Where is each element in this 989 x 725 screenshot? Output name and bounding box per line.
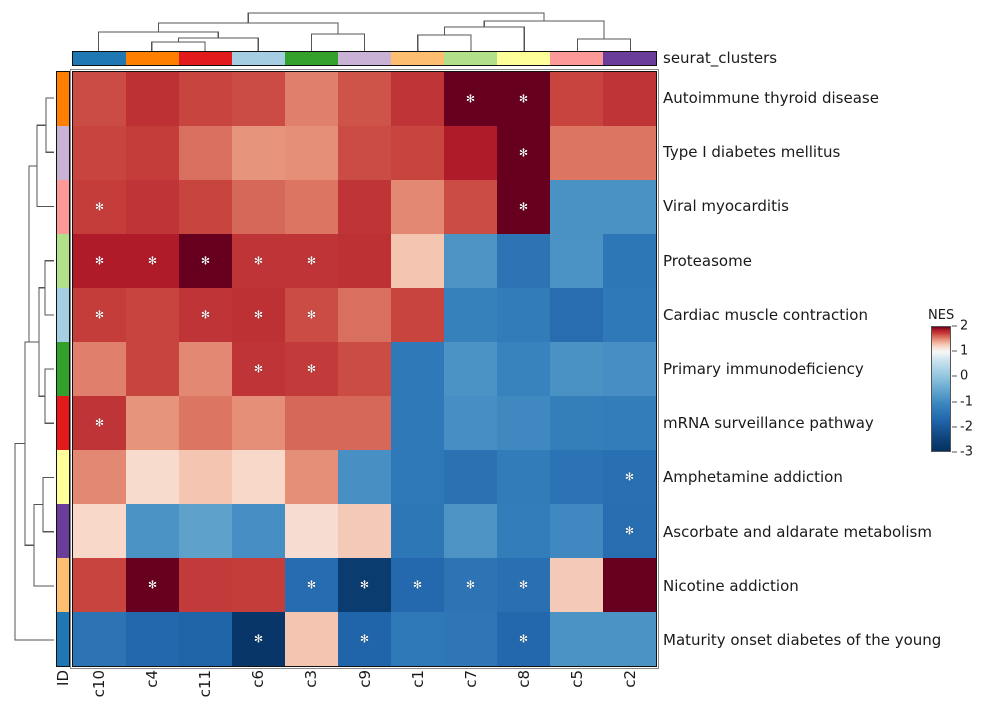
- heatmap-cell[interactable]: [285, 612, 338, 666]
- heatmap-cell[interactable]: ✻: [497, 126, 550, 180]
- heatmap-cell[interactable]: [603, 126, 656, 180]
- heatmap-cell[interactable]: ✻: [603, 504, 656, 558]
- heatmap-cell[interactable]: [179, 180, 232, 234]
- heatmap-cell[interactable]: [391, 612, 444, 666]
- heatmap-cell[interactable]: [338, 504, 391, 558]
- heatmap-cell[interactable]: [391, 288, 444, 342]
- column-label-c1: c1: [391, 670, 444, 725]
- heatmap-cell[interactable]: [550, 234, 603, 288]
- heatmap-cell[interactable]: [126, 396, 179, 450]
- heatmap-cell[interactable]: [179, 126, 232, 180]
- heatmap-cell[interactable]: [550, 72, 603, 126]
- heatmap-cell[interactable]: [126, 342, 179, 396]
- legend-tick-label: 2: [960, 319, 968, 334]
- significance-asterisk-icon: ✻: [254, 309, 263, 320]
- heatmap-cell[interactable]: [285, 450, 338, 504]
- significance-asterisk-icon: ✻: [307, 255, 316, 266]
- row-annotation-cell-8[interactable]: [57, 504, 69, 558]
- heatmap-cell[interactable]: [603, 558, 656, 612]
- heatmap-cell[interactable]: [603, 612, 656, 666]
- row-dendrogram: [8, 71, 54, 667]
- heatmap-cell[interactable]: ✻: [285, 288, 338, 342]
- heatmap-cell[interactable]: [603, 396, 656, 450]
- row-annotation-cell-5[interactable]: [57, 342, 69, 396]
- row-annotation-cell-10[interactable]: [57, 612, 69, 666]
- legend-tick-1: 1: [952, 345, 968, 358]
- column-label-c11: c11: [178, 670, 231, 725]
- heatmap-cell[interactable]: ✻: [126, 558, 179, 612]
- column-id-label-text: ID: [54, 670, 72, 688]
- heatmap-cell[interactable]: ✻: [126, 234, 179, 288]
- heatmap-cell[interactable]: [232, 180, 285, 234]
- significance-asterisk-icon: ✻: [413, 579, 422, 590]
- column-label-text: c5: [568, 670, 586, 690]
- heatmap-cell[interactable]: ✻: [73, 234, 126, 288]
- column-annotation-cell-c1[interactable]: [391, 52, 444, 65]
- heatmap-cell[interactable]: [126, 612, 179, 666]
- significance-asterisk-icon: ✻: [625, 471, 634, 482]
- heatmap-cell[interactable]: [232, 558, 285, 612]
- significance-asterisk-icon: ✻: [519, 201, 528, 212]
- heatmap-cell[interactable]: [232, 126, 285, 180]
- heatmap-cell[interactable]: [550, 396, 603, 450]
- heatmap-grid[interactable]: ✻✻✻✻✻✻✻✻✻✻✻✻✻✻✻✻✻✻✻✻✻✻✻✻✻✻✻✻: [72, 71, 657, 667]
- row-annotation-cell-9[interactable]: [57, 558, 69, 612]
- heatmap-cell[interactable]: [126, 180, 179, 234]
- significance-asterisk-icon: ✻: [519, 633, 528, 644]
- heatmap-cell[interactable]: [232, 72, 285, 126]
- column-label-c3: c3: [285, 670, 338, 725]
- heatmap-cell[interactable]: [285, 396, 338, 450]
- significance-asterisk-icon: ✻: [254, 363, 263, 374]
- heatmap-cell[interactable]: [285, 126, 338, 180]
- significance-asterisk-icon: ✻: [95, 255, 104, 266]
- heatmap-cell[interactable]: [444, 612, 497, 666]
- heatmap-cell[interactable]: ✻: [391, 558, 444, 612]
- heatmap-cell[interactable]: [338, 396, 391, 450]
- column-annotation-cell-c4[interactable]: [126, 52, 179, 65]
- heatmap-cell[interactable]: [285, 180, 338, 234]
- significance-asterisk-icon: ✻: [466, 93, 475, 104]
- column-label-text: c9: [356, 670, 374, 690]
- column-label-text: c4: [143, 670, 161, 690]
- heatmap-cell[interactable]: [391, 180, 444, 234]
- heatmap-cell[interactable]: ✻: [232, 342, 285, 396]
- column-label-text: c7: [462, 670, 480, 690]
- heatmap-cell[interactable]: [391, 126, 444, 180]
- heatmap-cell[interactable]: [444, 342, 497, 396]
- heatmap-cell[interactable]: [550, 612, 603, 666]
- column-annotation-cell-c7[interactable]: [444, 52, 497, 65]
- heatmap-cell[interactable]: [73, 72, 126, 126]
- heatmap-cell[interactable]: ✻: [285, 342, 338, 396]
- column-label-c8: c8: [498, 670, 551, 725]
- legend-tick--3: -3: [952, 446, 973, 459]
- column-annotation-cell-c10[interactable]: [73, 52, 126, 65]
- heatmap-cell[interactable]: [285, 72, 338, 126]
- column-annotation-strip: [72, 51, 657, 66]
- legend-tick--1: -1: [952, 395, 973, 408]
- heatmap-cell[interactable]: [179, 558, 232, 612]
- legend-tick-label: 0: [960, 369, 968, 384]
- heatmap-cell[interactable]: [603, 180, 656, 234]
- row-annotation-cell-1[interactable]: [57, 126, 69, 180]
- heatmap-cell[interactable]: [338, 450, 391, 504]
- heatmap-cell[interactable]: [338, 72, 391, 126]
- column-annotation-cell-c8[interactable]: [497, 52, 550, 65]
- heatmap-cell[interactable]: ✻: [497, 180, 550, 234]
- row-label-2: Viral myocarditis: [663, 179, 989, 233]
- heatmap-cell[interactable]: [391, 72, 444, 126]
- heatmap-cell[interactable]: [126, 126, 179, 180]
- heatmap-cell[interactable]: [73, 612, 126, 666]
- column-annotation-cell-c2[interactable]: [603, 52, 656, 65]
- heatmap-cell[interactable]: [444, 504, 497, 558]
- heatmap-cell[interactable]: [550, 450, 603, 504]
- row-annotation-cell-2[interactable]: [57, 180, 69, 234]
- heatmap-cell[interactable]: ✻: [285, 558, 338, 612]
- nes-legend: NES 210-1-2-3: [928, 308, 988, 468]
- significance-asterisk-icon: ✻: [307, 579, 316, 590]
- heatmap-cell[interactable]: [232, 396, 285, 450]
- row-annotation-strip: [56, 71, 70, 667]
- column-labels: c10c4c11c6c3c9c1c7c8c5c2: [72, 670, 657, 725]
- significance-asterisk-icon: ✻: [360, 579, 369, 590]
- significance-asterisk-icon: ✻: [201, 255, 210, 266]
- heatmap-cell[interactable]: [444, 396, 497, 450]
- legend-tick-label: -2: [960, 419, 973, 434]
- heatmap-cell[interactable]: [391, 396, 444, 450]
- column-label-text: c2: [621, 670, 639, 690]
- significance-asterisk-icon: ✻: [360, 633, 369, 644]
- heatmap-cell[interactable]: ✻: [338, 558, 391, 612]
- column-annotation-cell-c6[interactable]: [232, 52, 285, 65]
- heatmap-cell[interactable]: [550, 180, 603, 234]
- significance-asterisk-icon: ✻: [201, 309, 210, 320]
- significance-asterisk-icon: ✻: [519, 93, 528, 104]
- heatmap-cell[interactable]: [603, 234, 656, 288]
- heatmap-cell[interactable]: ✻: [232, 288, 285, 342]
- heatmap-cell[interactable]: [73, 342, 126, 396]
- significance-asterisk-icon: ✻: [625, 525, 634, 536]
- heatmap-cell[interactable]: [338, 180, 391, 234]
- heatmap-cell[interactable]: ✻: [73, 288, 126, 342]
- heatmap-cell[interactable]: [391, 342, 444, 396]
- heatmap-cell[interactable]: [444, 234, 497, 288]
- column-annotation-cell-c5[interactable]: [550, 52, 603, 65]
- heatmap-cell[interactable]: [497, 342, 550, 396]
- heatmap-cell[interactable]: [497, 504, 550, 558]
- heatmap-cell[interactable]: ✻: [73, 396, 126, 450]
- heatmap-cell[interactable]: [126, 288, 179, 342]
- legend-title: NES: [928, 308, 954, 323]
- column-label-text: c10: [90, 670, 108, 699]
- row-label-3: Proteasome: [663, 234, 989, 288]
- row-dendrogram-svg: [8, 71, 54, 667]
- heatmap-cell[interactable]: [179, 342, 232, 396]
- heatmap-cell[interactable]: [391, 234, 444, 288]
- row-label-8: Ascorbate and aldarate metabolism: [663, 505, 989, 559]
- heatmap-cell[interactable]: ✻: [179, 288, 232, 342]
- heatmap-cell[interactable]: [444, 288, 497, 342]
- column-annotation-title: seurat_clusters: [663, 51, 777, 66]
- heatmap-cell[interactable]: [550, 504, 603, 558]
- heatmap-cell[interactable]: ✻: [497, 72, 550, 126]
- heatmap-cell[interactable]: ✻: [338, 612, 391, 666]
- row-label-10: Maturity onset diabetes of the young: [663, 613, 989, 667]
- heatmap-cell[interactable]: ✻: [73, 180, 126, 234]
- heatmap-cell[interactable]: [73, 450, 126, 504]
- heatmap-cell[interactable]: ✻: [497, 558, 550, 612]
- heatmap-cell[interactable]: [285, 504, 338, 558]
- row-label-9: Nicotine addiction: [663, 559, 989, 613]
- significance-asterisk-icon: ✻: [148, 255, 157, 266]
- heatmap-cell[interactable]: [179, 72, 232, 126]
- column-label-c6: c6: [232, 670, 285, 725]
- heatmap-cell[interactable]: [603, 72, 656, 126]
- column-dendrogram-svg: [72, 5, 657, 51]
- heatmap-cell[interactable]: [179, 450, 232, 504]
- significance-asterisk-icon: ✻: [148, 579, 157, 590]
- row-annotation-cell-3[interactable]: [57, 234, 69, 288]
- column-label-c9: c9: [338, 670, 391, 725]
- row-label-0: Autoimmune thyroid disease: [663, 71, 989, 125]
- heatmap-cell[interactable]: [126, 504, 179, 558]
- column-label-c7: c7: [444, 670, 497, 725]
- column-label-c4: c4: [125, 670, 178, 725]
- heatmap-cell[interactable]: [338, 126, 391, 180]
- heatmap-cell[interactable]: ✻: [285, 234, 338, 288]
- heatmap-cell[interactable]: ✻: [603, 450, 656, 504]
- heatmap-cell[interactable]: [444, 180, 497, 234]
- heatmap-cell[interactable]: [73, 126, 126, 180]
- heatmap-cell[interactable]: [603, 288, 656, 342]
- heatmap-cell[interactable]: [391, 504, 444, 558]
- heatmap-cell[interactable]: [73, 558, 126, 612]
- heatmap-cell[interactable]: [497, 396, 550, 450]
- heatmap-cell[interactable]: [497, 234, 550, 288]
- column-label-text: c3: [302, 670, 320, 690]
- heatmap-cell[interactable]: [550, 342, 603, 396]
- heatmap-cell[interactable]: [391, 450, 444, 504]
- significance-asterisk-icon: ✻: [254, 255, 263, 266]
- heatmap-cell[interactable]: [126, 72, 179, 126]
- heatmap-cell[interactable]: [497, 288, 550, 342]
- row-label-1: Type I diabetes mellitus: [663, 125, 989, 179]
- column-dendrogram: [72, 5, 657, 51]
- significance-asterisk-icon: ✻: [95, 309, 104, 320]
- heatmap-cell[interactable]: [179, 396, 232, 450]
- legend-colorbar: [931, 326, 951, 452]
- heatmap-cell[interactable]: [179, 504, 232, 558]
- legend-tick-2: 2: [952, 320, 968, 333]
- heatmap-cell[interactable]: [444, 450, 497, 504]
- row-annotation-cell-4[interactable]: [57, 288, 69, 342]
- significance-asterisk-icon: ✻: [95, 417, 104, 428]
- heatmap-cell[interactable]: [232, 450, 285, 504]
- heatmap-cell[interactable]: ✻: [232, 234, 285, 288]
- heatmap-figure: seurat_clusters: [0, 0, 989, 725]
- column-label-text: c1: [409, 670, 427, 690]
- heatmap-cell[interactable]: [338, 288, 391, 342]
- legend-tick-label: -3: [960, 445, 973, 460]
- heatmap-cell[interactable]: [338, 342, 391, 396]
- heatmap-cell[interactable]: [550, 558, 603, 612]
- legend-tick-0: 0: [952, 370, 968, 383]
- heatmap-cell[interactable]: [73, 504, 126, 558]
- heatmap-cell[interactable]: ✻: [444, 558, 497, 612]
- heatmap-cell[interactable]: [497, 450, 550, 504]
- legend-tick-label: -1: [960, 394, 973, 409]
- column-annotation-cell-c3[interactable]: [285, 52, 338, 65]
- heatmap-cell[interactable]: ✻: [232, 612, 285, 666]
- column-label-c10: c10: [72, 670, 125, 725]
- column-annotation-cell-c11[interactable]: [179, 52, 232, 65]
- heatmap-cell[interactable]: [338, 234, 391, 288]
- heatmap-cell[interactable]: [179, 612, 232, 666]
- significance-asterisk-icon: ✻: [519, 579, 528, 590]
- row-annotation-cell-6[interactable]: [57, 396, 69, 450]
- significance-asterisk-icon: ✻: [254, 633, 263, 644]
- column-label-text: c11: [196, 670, 214, 699]
- column-annotation-cell-c9[interactable]: [338, 52, 391, 65]
- column-label-text: c6: [249, 670, 267, 690]
- heatmap-cell[interactable]: [126, 450, 179, 504]
- significance-asterisk-icon: ✻: [307, 309, 316, 320]
- heatmap-cell[interactable]: ✻: [497, 612, 550, 666]
- heatmap-cell[interactable]: ✻: [444, 72, 497, 126]
- significance-asterisk-icon: ✻: [466, 579, 475, 590]
- column-label-c2: c2: [604, 670, 657, 725]
- heatmap-cell[interactable]: [232, 504, 285, 558]
- column-label-c5: c5: [551, 670, 604, 725]
- row-annotation-cell-7[interactable]: [57, 450, 69, 504]
- significance-asterisk-icon: ✻: [307, 363, 316, 374]
- heatmap-cell[interactable]: [550, 288, 603, 342]
- legend-tick-label: 1: [960, 344, 968, 359]
- legend-tick--2: -2: [952, 420, 973, 433]
- heatmap-cell[interactable]: [603, 342, 656, 396]
- significance-asterisk-icon: ✻: [519, 147, 528, 158]
- heatmap-cell[interactable]: [444, 126, 497, 180]
- column-label-text: c8: [515, 670, 533, 690]
- significance-asterisk-icon: ✻: [95, 201, 104, 212]
- heatmap-cell[interactable]: ✻: [179, 234, 232, 288]
- row-annotation-cell-0[interactable]: [57, 72, 69, 126]
- legend-ticks: 210-1-2-3: [952, 326, 986, 452]
- heatmap-cell[interactable]: [550, 126, 603, 180]
